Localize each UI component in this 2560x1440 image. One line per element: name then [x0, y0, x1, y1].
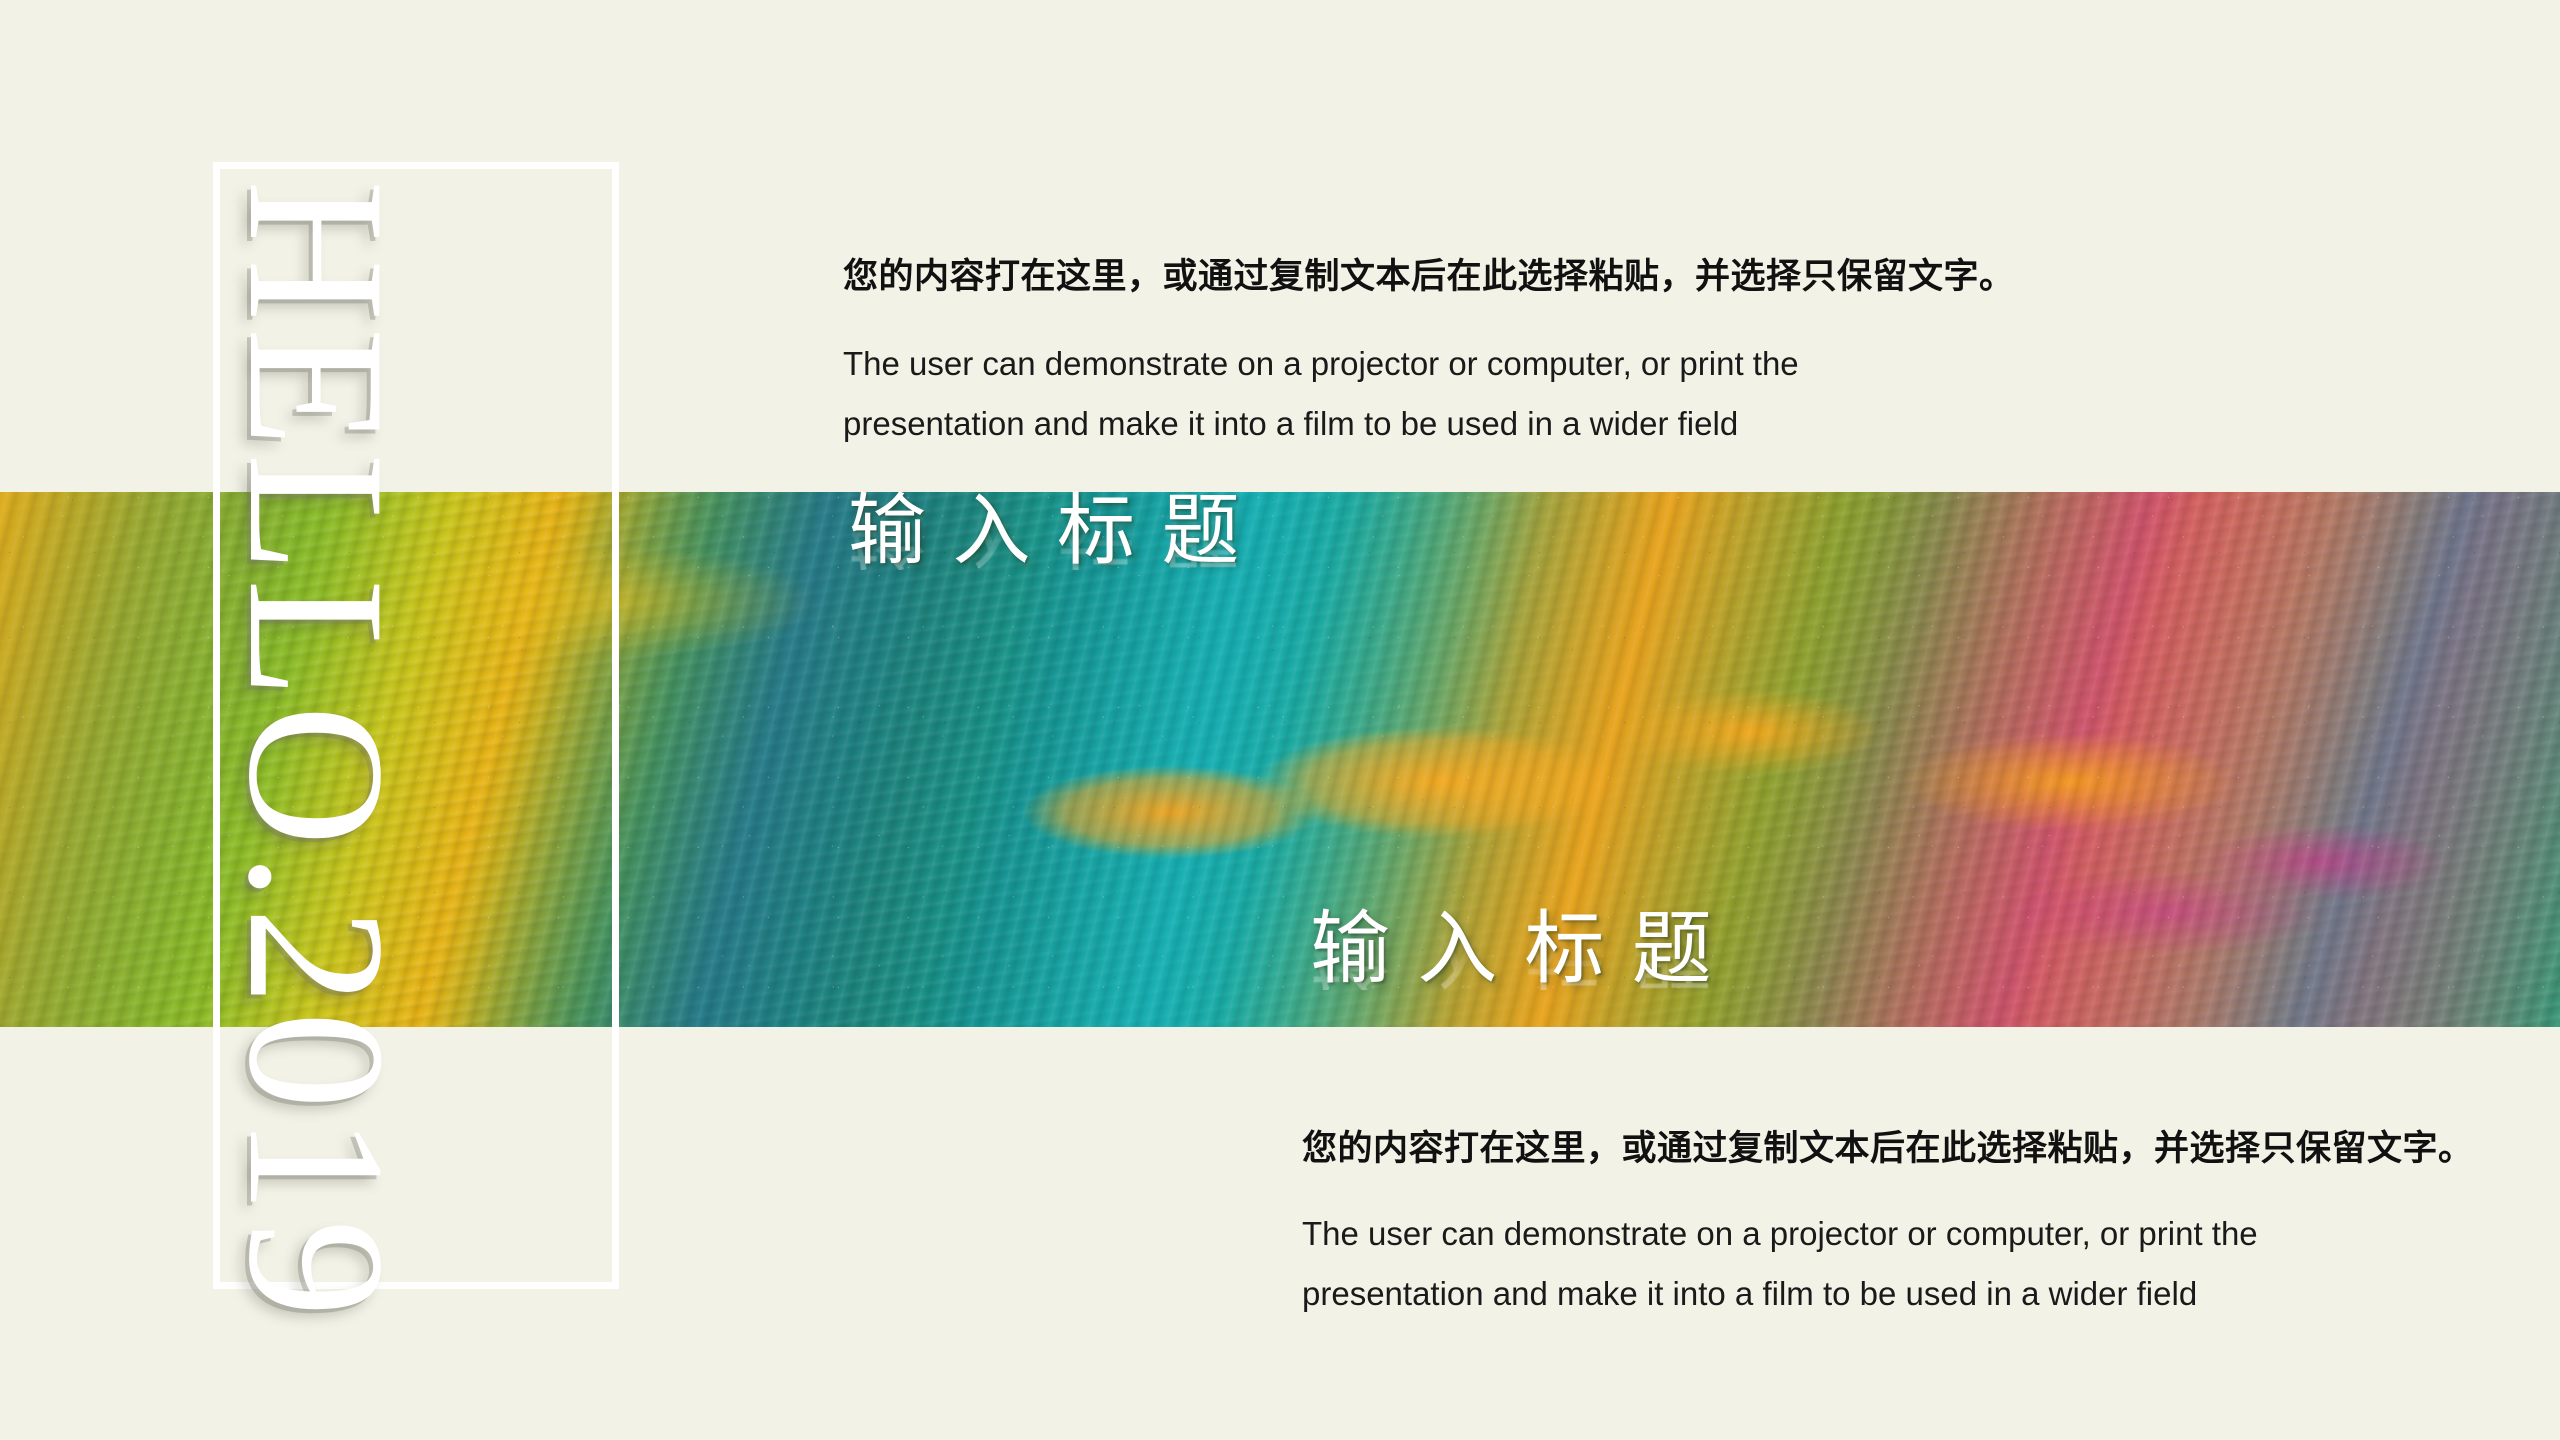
artwork-image-band: [0, 492, 2560, 1027]
banner-title-primary-reflection: 输入标题: [848, 492, 1266, 570]
text-block-bottom: 您的内容打在这里，或通过复制文本后在此选择粘贴，并选择只保留文字。 The us…: [1302, 1120, 2474, 1335]
text-block-top: 您的内容打在这里，或通过复制文本后在此选择粘贴，并选择只保留文字。 The us…: [843, 248, 2015, 465]
artwork-speckle-grain: [0, 492, 2560, 1027]
text-block-top-heading: 您的内容打在这里，或通过复制文本后在此选择粘贴，并选择只保留文字。: [843, 248, 2015, 299]
presentation-slide: 输入标题 输入标题 输入标题 输入标题 HELLO.2019 您的内容打在这里，…: [0, 0, 2560, 1440]
text-block-bottom-line-2: presentation and make it into a film to …: [1302, 1275, 2474, 1313]
banner-title-primary: 输入标题 输入标题: [848, 492, 1266, 648]
text-block-top-line-1: The user can demonstrate on a projector …: [843, 345, 2015, 383]
text-block-top-line-2: presentation and make it into a film to …: [843, 405, 2015, 443]
banner-title-secondary-reflection: 输入标题: [1310, 910, 1739, 990]
banner-title-secondary: 输入标题 输入标题: [1310, 910, 1739, 1070]
text-block-bottom-line-1: The user can demonstrate on a projector …: [1302, 1215, 2474, 1253]
text-block-bottom-heading: 您的内容打在这里，或通过复制文本后在此选择粘贴，并选择只保留文字。: [1302, 1120, 2474, 1171]
